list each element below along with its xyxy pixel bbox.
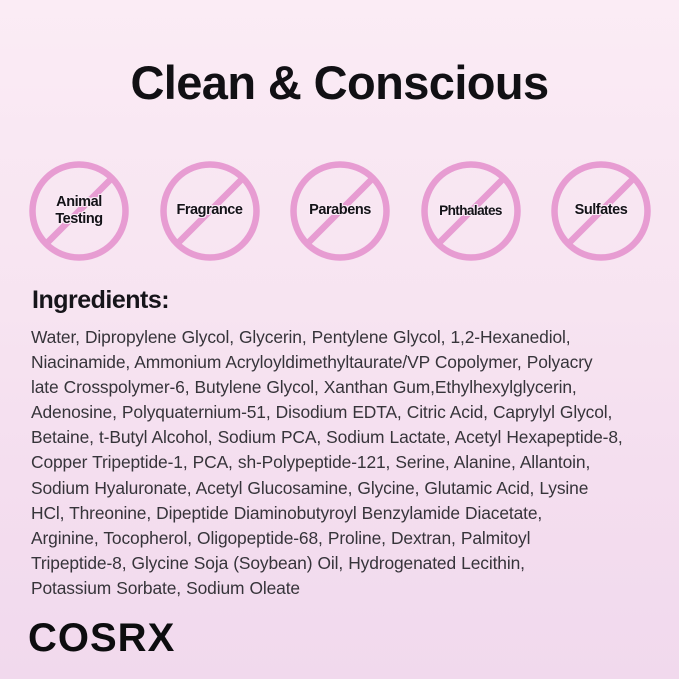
ingredients-line: Niacinamide, Ammonium Acryloyldimethylta… [31, 350, 656, 375]
ingredients-line: HCl, Threonine, Dipeptide Diaminobutyroy… [31, 501, 656, 526]
badge-label: Fragrance [176, 202, 242, 219]
badge-label: Phthalates [439, 203, 502, 219]
free-from-badge-row: Animal Testing Fragrance Parabens Phthal… [26, 158, 654, 268]
badge-label: Sulfates [575, 202, 628, 219]
ingredients-line: Copper Tripeptide-1, PCA, sh-Polypeptide… [31, 450, 656, 475]
ingredients-line: Potassium Sorbate, Sodium Oleate [31, 576, 656, 601]
badge-parabens: Parabens [287, 158, 393, 264]
badge-sulfates: Sulfates [548, 158, 654, 264]
badge-fragrance: Fragrance [157, 158, 263, 264]
ingredients-heading: Ingredients: [32, 286, 169, 315]
page-title: Clean & Conscious [0, 57, 679, 109]
ingredients-line: Betaine, t-Butyl Alcohol, Sodium PCA, So… [31, 425, 656, 450]
badge-phthalates: Phthalates [418, 158, 524, 264]
ingredients-list: Water, Dipropylene Glycol, Glycerin, Pen… [31, 325, 656, 601]
ingredients-line: Water, Dipropylene Glycol, Glycerin, Pen… [31, 325, 656, 350]
brand-logo: COSRX [28, 618, 175, 658]
badge-label: Parabens [309, 202, 371, 219]
ingredients-line: Adenosine, Polyquaternium-51, Disodium E… [31, 400, 656, 425]
ingredients-line: late Crosspolymer-6, Butylene Glycol, Xa… [31, 375, 656, 400]
ingredients-line: Arginine, Tocopherol, Oligopeptide-68, P… [31, 526, 656, 551]
badge-animal-testing: Animal Testing [26, 158, 132, 264]
ingredients-line: Sodium Hyaluronate, Acetyl Glucosamine, … [31, 476, 656, 501]
badge-label: Animal Testing [55, 194, 102, 228]
ingredients-line: Tripeptide-8, Glycine Soja (Soybean) Oil… [31, 551, 656, 576]
product-info-card: Clean & Conscious Animal Testing Fragran… [0, 0, 679, 679]
